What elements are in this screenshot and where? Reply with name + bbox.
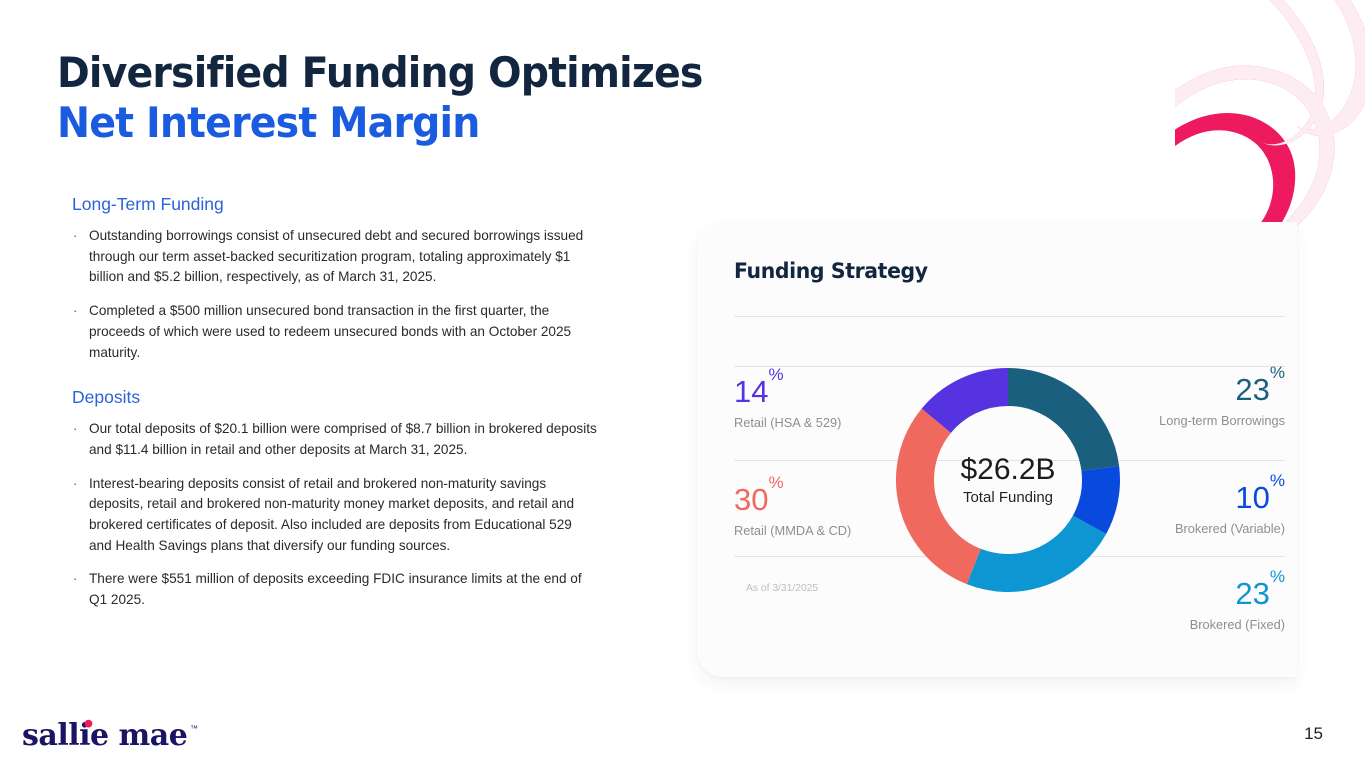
stat-label: Long-term Borrowings <box>1159 412 1285 429</box>
page-number: 15 <box>1304 724 1323 744</box>
stat-retail-mmda-cd: 30% Retail (MMDA & CD) <box>734 484 851 539</box>
bullet-dot-icon: · <box>73 301 77 322</box>
donut-total-value: $26.2B <box>960 453 1055 487</box>
list-item-text: Completed a $500 million unsecured bond … <box>89 303 571 359</box>
stat-value: 30% <box>734 484 851 515</box>
stat-label: Brokered (Variable) <box>1175 520 1285 537</box>
percent-symbol: % <box>768 473 783 492</box>
list-item-text: There were $551 million of deposits exce… <box>89 571 582 607</box>
donut-center-label: $26.2B Total Funding <box>877 349 1139 611</box>
stat-label: Retail (HSA & 529) <box>734 414 841 431</box>
stat-value: 14% <box>734 376 841 407</box>
svg-text:™: ™ <box>190 724 198 733</box>
stat-number: 10 <box>1235 480 1269 515</box>
brand-swoosh-decoration <box>1175 0 1365 245</box>
sallie-mae-logo: sallie mae ™ <box>22 718 222 754</box>
stat-number: 23 <box>1235 372 1269 407</box>
slide: Diversified Funding Optimizes Net Intere… <box>0 0 1365 768</box>
bullet-dot-icon: · <box>73 569 77 590</box>
percent-symbol: % <box>1270 363 1285 382</box>
stat-label: Retail (MMDA & CD) <box>734 522 851 539</box>
stat-value: 10% <box>1175 482 1285 513</box>
title-line-1: Diversified Funding Optimizes <box>57 48 828 98</box>
card-title: Funding Strategy <box>734 259 928 284</box>
stat-long-term-borrowings: 23% Long-term Borrowings <box>1159 374 1285 429</box>
card-header-divider <box>734 316 1285 317</box>
svg-text:sallie mae: sallie mae <box>22 718 187 753</box>
bullet-list-deposits: · Our total deposits of $20.1 billion we… <box>72 419 597 611</box>
stat-value: 23% <box>1190 578 1285 609</box>
funding-strategy-card: Funding Strategy 14% Retail (HSA & 529) … <box>697 222 1297 677</box>
donut-total-label: Total Funding <box>963 488 1053 507</box>
bullet-list-long-term-funding: · Outstanding borrowings consist of unse… <box>72 226 597 363</box>
page-title: Diversified Funding Optimizes Net Intere… <box>57 48 828 148</box>
percent-symbol: % <box>1270 471 1285 490</box>
list-item-text: Interest-bearing deposits consist of ret… <box>89 476 574 553</box>
stat-number: 30 <box>734 482 768 517</box>
stat-label: Brokered (Fixed) <box>1190 616 1285 633</box>
stat-value: 23% <box>1159 374 1285 405</box>
list-item: · Completed a $500 million unsecured bon… <box>72 301 597 363</box>
list-item: · Interest-bearing deposits consist of r… <box>72 474 597 557</box>
bullet-dot-icon: · <box>73 419 77 440</box>
title-line-2: Net Interest Margin <box>57 98 828 148</box>
list-item: · Our total deposits of $20.1 billion we… <box>72 419 597 460</box>
section-heading-deposits: Deposits <box>72 385 597 409</box>
stat-brokered-variable: 10% Brokered (Variable) <box>1175 482 1285 537</box>
stat-number: 14 <box>734 374 768 409</box>
card-footnote: As of 3/31/2025 <box>746 582 818 596</box>
funding-donut-chart: $26.2B Total Funding <box>877 349 1139 611</box>
list-item: · There were $551 million of deposits ex… <box>72 569 597 610</box>
content-left-column: Long-Term Funding · Outstanding borrowin… <box>72 192 597 611</box>
stat-brokered-fixed: 23% Brokered (Fixed) <box>1190 578 1285 633</box>
list-item-text: Our total deposits of $20.1 billion were… <box>89 421 597 457</box>
section-heading-long-term-funding: Long-Term Funding <box>72 192 597 216</box>
list-item: · Outstanding borrowings consist of unse… <box>72 226 597 288</box>
stat-number: 23 <box>1235 576 1269 611</box>
percent-symbol: % <box>768 365 783 384</box>
stat-retail-hsa-529: 14% Retail (HSA & 529) <box>734 376 841 431</box>
bullet-dot-icon: · <box>73 474 77 495</box>
percent-symbol: % <box>1270 567 1285 586</box>
list-item-text: Outstanding borrowings consist of unsecu… <box>89 228 583 284</box>
bullet-dot-icon: · <box>73 226 77 247</box>
